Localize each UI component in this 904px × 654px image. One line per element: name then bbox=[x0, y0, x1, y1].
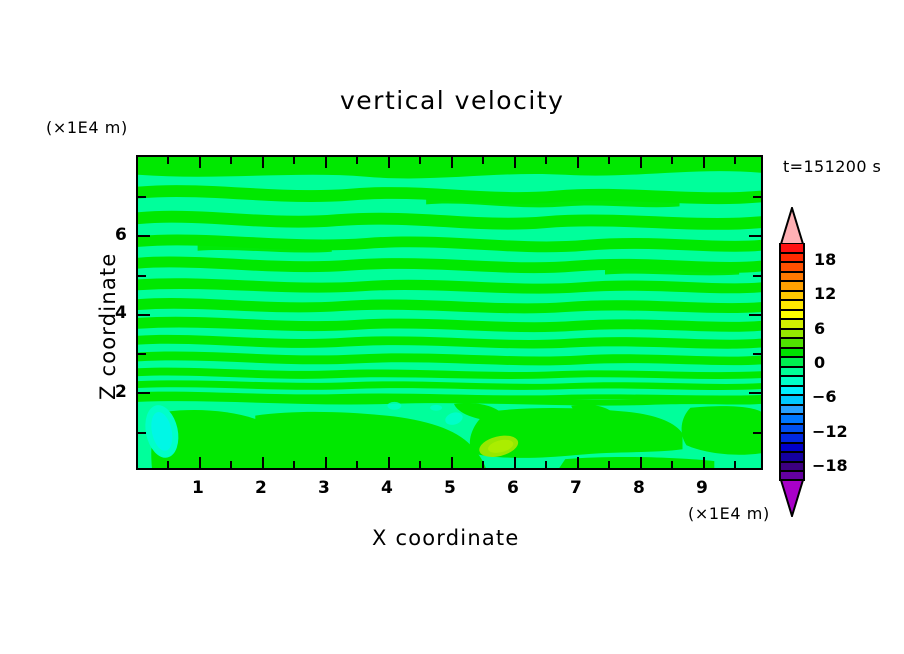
y-tick-minor bbox=[753, 275, 761, 277]
x-tick-minor bbox=[293, 157, 295, 164]
x-tick-major bbox=[514, 157, 516, 168]
colorbar-band bbox=[781, 405, 803, 415]
colorbar-tick-label: −12 bbox=[812, 422, 848, 441]
x-tick-major bbox=[703, 457, 705, 468]
x-tick-major bbox=[262, 157, 264, 168]
x-tick-major bbox=[451, 457, 453, 468]
colorbar-band bbox=[781, 462, 803, 472]
y-tick-minor bbox=[138, 275, 146, 277]
x-tick-major bbox=[388, 157, 390, 168]
y-tick-minor bbox=[753, 196, 761, 198]
colorbar-band bbox=[781, 357, 803, 367]
colorbar-under-arrow bbox=[779, 479, 805, 517]
colorbar-band bbox=[781, 414, 803, 424]
x-tick-minor bbox=[545, 157, 547, 164]
x-tick-minor bbox=[356, 461, 358, 468]
x-tick-minor bbox=[734, 461, 736, 468]
y-tick-major bbox=[749, 392, 761, 394]
x-tick-label: 6 bbox=[507, 478, 519, 498]
x-tick-label: 4 bbox=[381, 478, 393, 498]
x-tick-major bbox=[577, 457, 579, 468]
chart-title: vertical velocity bbox=[340, 86, 564, 115]
colorbar-band bbox=[781, 329, 803, 339]
colorbar-band bbox=[781, 319, 803, 329]
colorbar-band bbox=[781, 367, 803, 377]
y-tick-minor bbox=[753, 353, 761, 355]
y-tick-minor bbox=[138, 353, 146, 355]
contour-field bbox=[138, 157, 761, 468]
x-tick-minor bbox=[671, 157, 673, 164]
colorbar-band bbox=[781, 348, 803, 358]
colorbar-band bbox=[781, 395, 803, 405]
colorbar-bands bbox=[779, 243, 805, 481]
x-tick-major bbox=[514, 457, 516, 468]
colorbar-band bbox=[781, 452, 803, 462]
colorbar-over-arrow bbox=[779, 207, 805, 245]
y-axis-title: Z coordinate bbox=[96, 253, 120, 400]
y-tick-minor bbox=[138, 432, 146, 434]
x-tick-major bbox=[577, 157, 579, 168]
x-tick-minor bbox=[293, 461, 295, 468]
x-tick-minor bbox=[230, 461, 232, 468]
x-tick-minor bbox=[671, 461, 673, 468]
x-tick-major bbox=[388, 457, 390, 468]
x-tick-minor bbox=[482, 461, 484, 468]
colorbar-band bbox=[781, 443, 803, 453]
x-tick-major bbox=[262, 457, 264, 468]
x-tick-minor bbox=[230, 157, 232, 164]
x-tick-label: 9 bbox=[696, 478, 708, 498]
colorbar-band bbox=[781, 272, 803, 282]
colorbar-tick-label: −6 bbox=[812, 387, 837, 406]
y-tick-major bbox=[138, 235, 150, 237]
x-tick-minor bbox=[608, 461, 610, 468]
colorbar-band bbox=[781, 281, 803, 291]
colorbar-band bbox=[781, 376, 803, 386]
y-tick-major bbox=[749, 314, 761, 316]
colorbar-band bbox=[781, 338, 803, 348]
x-tick-label: 8 bbox=[633, 478, 645, 498]
colorbar[interactable] bbox=[779, 207, 805, 517]
colorbar-tick-label: 6 bbox=[814, 319, 825, 338]
colorbar-band bbox=[781, 424, 803, 434]
y-axis-unit-label: (×1E4 m) bbox=[46, 118, 128, 137]
x-tick-minor bbox=[608, 157, 610, 164]
x-tick-label: 2 bbox=[255, 478, 267, 498]
x-tick-minor bbox=[419, 157, 421, 164]
x-tick-minor bbox=[167, 461, 169, 468]
x-tick-label: 5 bbox=[444, 478, 456, 498]
colorbar-tick-label: 18 bbox=[814, 250, 836, 269]
colorbar-band bbox=[781, 243, 803, 253]
x-tick-major bbox=[199, 457, 201, 468]
figure-canvas: vertical velocity (×1E4 m) t=151200 s bbox=[0, 0, 904, 654]
x-tick-label: 1 bbox=[192, 478, 204, 498]
x-tick-minor bbox=[356, 157, 358, 164]
y-tick-major bbox=[138, 392, 150, 394]
x-tick-major bbox=[640, 457, 642, 468]
colorbar-band bbox=[781, 386, 803, 396]
x-tick-minor bbox=[734, 157, 736, 164]
colorbar-band bbox=[781, 300, 803, 310]
x-tick-minor bbox=[482, 157, 484, 164]
colorbar-band bbox=[781, 262, 803, 272]
x-tick-minor bbox=[545, 461, 547, 468]
time-annotation: t=151200 s bbox=[783, 157, 881, 176]
x-tick-major bbox=[325, 157, 327, 168]
x-tick-minor bbox=[167, 157, 169, 164]
colorbar-band bbox=[781, 310, 803, 320]
contour-plot-area[interactable] bbox=[136, 155, 763, 470]
colorbar-band bbox=[781, 291, 803, 301]
y-tick-major bbox=[138, 314, 150, 316]
y-tick-major bbox=[749, 235, 761, 237]
x-tick-major bbox=[199, 157, 201, 168]
x-tick-major bbox=[703, 157, 705, 168]
x-tick-minor bbox=[419, 461, 421, 468]
colorbar-tick-label: −18 bbox=[812, 456, 848, 475]
x-tick-label: 7 bbox=[570, 478, 582, 498]
x-tick-major bbox=[451, 157, 453, 168]
x-axis-title: X coordinate bbox=[372, 526, 519, 550]
colorbar-tick-label: 12 bbox=[814, 284, 836, 303]
y-tick-label: 6 bbox=[115, 225, 127, 245]
x-tick-label: 3 bbox=[318, 478, 330, 498]
x-axis-unit-label: (×1E4 m) bbox=[688, 504, 770, 523]
x-tick-major bbox=[325, 457, 327, 468]
colorbar-tick-label: 0 bbox=[814, 353, 825, 372]
y-tick-minor bbox=[138, 196, 146, 198]
x-tick-major bbox=[640, 157, 642, 168]
colorbar-band bbox=[781, 253, 803, 263]
y-tick-minor bbox=[753, 432, 761, 434]
colorbar-band bbox=[781, 433, 803, 443]
